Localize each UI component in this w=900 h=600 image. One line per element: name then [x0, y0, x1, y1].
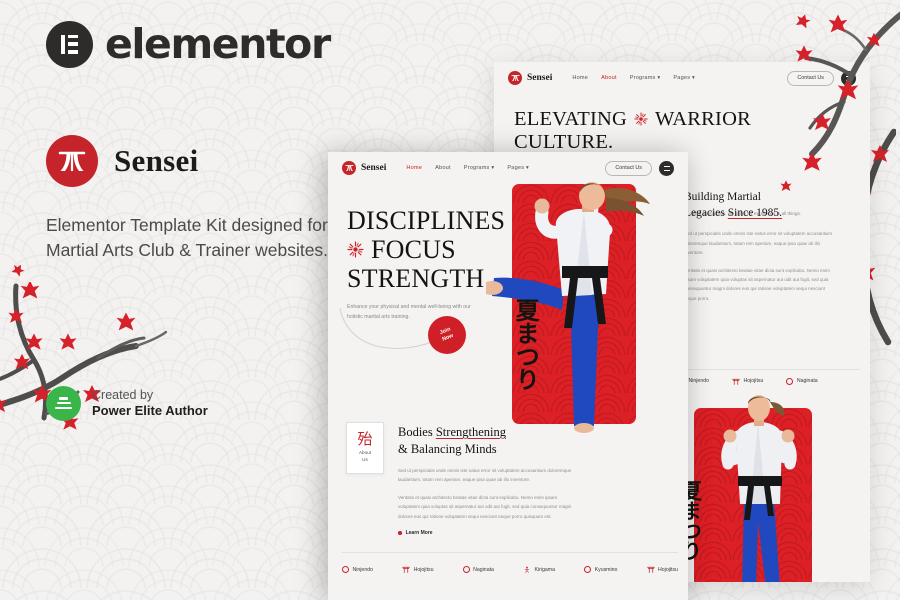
- sensei-mark-icon: [508, 71, 522, 85]
- front-logo-text: Sensei: [361, 163, 386, 173]
- torii-icon: [647, 566, 655, 573]
- about-heading-line1-plain: Bodies: [398, 425, 436, 439]
- join-now-badge[interactable]: JoinNow: [428, 316, 466, 354]
- back-nav-item-pages[interactable]: Pages ▾: [673, 75, 695, 81]
- promo-left-panel: elementor Sensei Elementor Template Kit …: [46, 20, 346, 421]
- figure-icon: [523, 566, 531, 573]
- chevron-down-icon: ▾: [692, 75, 695, 81]
- back-section-paragraph-2: Veritatis et quasi architecto beatae vit…: [684, 266, 836, 304]
- front-nav-links: Home About Programs ▾ Pages ▾: [406, 165, 529, 171]
- back-contact-us-button[interactable]: Contact Us: [787, 71, 834, 86]
- front-nav-item-about[interactable]: About: [435, 165, 451, 171]
- front-browser-mockup[interactable]: Sensei Home About Programs ▾ Pages ▾ Con…: [328, 152, 688, 600]
- front-discipline-item-2[interactable]: Naginata: [463, 566, 494, 573]
- back-discipline-label-1: Hojojitsu: [743, 378, 763, 384]
- front-nav-pages-label: Pages: [507, 165, 524, 171]
- front-discipline-item-4[interactable]: Kyusmino: [584, 566, 617, 573]
- front-discipline-item-1[interactable]: Hojojitsu: [402, 566, 433, 573]
- about-heading-line1-underlined: Strengthening: [436, 425, 506, 439]
- about-card-kanji: 殆: [357, 432, 372, 447]
- front-discipline-label-0: Ninjendo: [353, 567, 373, 573]
- elementor-wordmark: elementor: [105, 20, 330, 68]
- front-discipline-label-4: Kyusmino: [595, 567, 618, 573]
- back-hero-line-3: CULTURE.: [514, 131, 613, 154]
- torii-icon: [732, 378, 740, 385]
- back-section-heading-line2-plain: Legacies: [684, 207, 728, 219]
- back-hero-line-2: WARRIOR: [655, 108, 751, 131]
- learn-more-label: Learn More: [406, 530, 433, 536]
- back-nav-links: Home About Programs ▾ Pages ▾: [572, 75, 695, 81]
- front-nav-item-pages[interactable]: Pages ▾: [507, 165, 529, 171]
- kit-brand: Sensei: [46, 135, 346, 187]
- front-hero-line-1: DISCIPLINES: [347, 206, 505, 235]
- back-martial-artist-figure: [700, 392, 816, 582]
- hamburger-menu-icon[interactable]: [659, 161, 674, 176]
- about-paragraph-2: Veritatis et quasi architecto beatae vit…: [398, 493, 574, 521]
- front-japanese-calligraphy: 夏まつり: [514, 298, 536, 390]
- back-section-paragraph-1: Sed ut perspiciatis unde omnis iste natu…: [684, 229, 836, 257]
- front-discipline-item-0[interactable]: Ninjendo: [342, 566, 373, 573]
- promo-stage: elementor Sensei Elementor Template Kit …: [0, 0, 900, 600]
- back-site-logo[interactable]: Sensei: [508, 71, 552, 85]
- author-credit: Created by Power Elite Author: [46, 386, 346, 421]
- power-elite-badge-icon: [46, 386, 81, 421]
- back-discipline-item-1[interactable]: Hojojitsu: [732, 378, 763, 385]
- front-discipline-item-3[interactable]: Kirigama: [523, 566, 555, 573]
- front-site-logo[interactable]: Sensei: [342, 161, 386, 175]
- back-section-heading-line2-underlined: Since 1985.: [728, 207, 782, 219]
- kit-name: Sensei: [114, 143, 198, 179]
- front-about-section: 殆 About Us Bodies Strengthening & Balanc…: [346, 422, 574, 536]
- about-card-label-2: Us: [362, 457, 368, 462]
- front-nav-item-programs[interactable]: Programs ▾: [464, 165, 495, 171]
- front-discipline-label-1: Hojojitsu: [414, 567, 434, 573]
- back-nav-pages-label: Pages: [673, 75, 690, 81]
- ring-icon: [463, 566, 470, 573]
- front-nav-programs-label: Programs: [464, 165, 490, 171]
- floral-ornament-icon: [634, 112, 648, 126]
- elementor-brand: elementor: [46, 20, 346, 68]
- back-site-navbar: Sensei Home About Programs ▾ Pages ▾ Con…: [494, 62, 870, 94]
- back-discipline-item-2[interactable]: Naginata: [786, 378, 817, 385]
- back-hero-line-1: ELEVATING: [514, 108, 627, 131]
- author-label: Created by: [92, 387, 208, 403]
- elementor-logo-icon: [46, 21, 93, 68]
- front-discipline-item-5[interactable]: Hojojitsu: [647, 566, 678, 573]
- ring-icon: [786, 378, 793, 385]
- sensei-mark-icon: [46, 135, 98, 187]
- front-contact-us-button[interactable]: Contact Us: [605, 161, 652, 176]
- hamburger-menu-icon[interactable]: [841, 71, 856, 86]
- ring-icon: [584, 566, 591, 573]
- ring-icon: [342, 566, 349, 573]
- about-us-card[interactable]: 殆 About Us: [346, 422, 384, 474]
- chevron-down-icon: ▾: [526, 165, 529, 171]
- about-heading-line2: & Balancing Minds: [398, 442, 497, 456]
- bullet-dot-icon: [398, 531, 402, 535]
- front-discipline-label-2: Naginata: [473, 567, 494, 573]
- back-discipline-label-0: Ninjendo: [689, 378, 709, 384]
- learn-more-link[interactable]: Learn More: [398, 530, 574, 536]
- chevron-down-icon: ▾: [657, 75, 660, 81]
- back-nav-item-home[interactable]: Home: [572, 75, 588, 81]
- front-nav-item-home[interactable]: Home: [406, 165, 422, 171]
- back-nav-programs-label: Programs: [630, 75, 656, 81]
- about-paragraph-1: Sed ut perspiciatis unde omnis iste natu…: [398, 466, 574, 485]
- back-logo-text: Sensei: [527, 73, 552, 83]
- back-discipline-strip: Ninjendo Hojojitsu Naginata: [678, 372, 858, 390]
- author-name: Power Elite Author: [92, 403, 208, 420]
- back-section-divider: [676, 369, 860, 370]
- back-discipline-label-2: Naginata: [797, 378, 818, 384]
- front-discipline-strip: Ninjendo Hojojitsu Naginata Kirigama: [342, 552, 678, 586]
- front-discipline-label-3: Kirigama: [535, 567, 555, 573]
- front-hero-line-2: FOCUS: [371, 235, 456, 264]
- back-nav-item-about[interactable]: About: [601, 75, 617, 81]
- floral-ornament-icon: [347, 241, 364, 258]
- about-card-label-1: About: [359, 450, 371, 455]
- front-hero-line-3: STRENGTH.: [347, 264, 491, 293]
- back-nav-item-programs[interactable]: Programs ▾: [630, 75, 661, 81]
- torii-icon: [402, 566, 410, 573]
- kit-description: Elementor Template Kit designed for Mart…: [46, 213, 346, 263]
- back-section-heading-line1: Building Martial: [684, 191, 761, 203]
- front-discipline-label-5: Hojojitsu: [658, 567, 678, 573]
- chevron-down-icon: ▾: [491, 165, 494, 171]
